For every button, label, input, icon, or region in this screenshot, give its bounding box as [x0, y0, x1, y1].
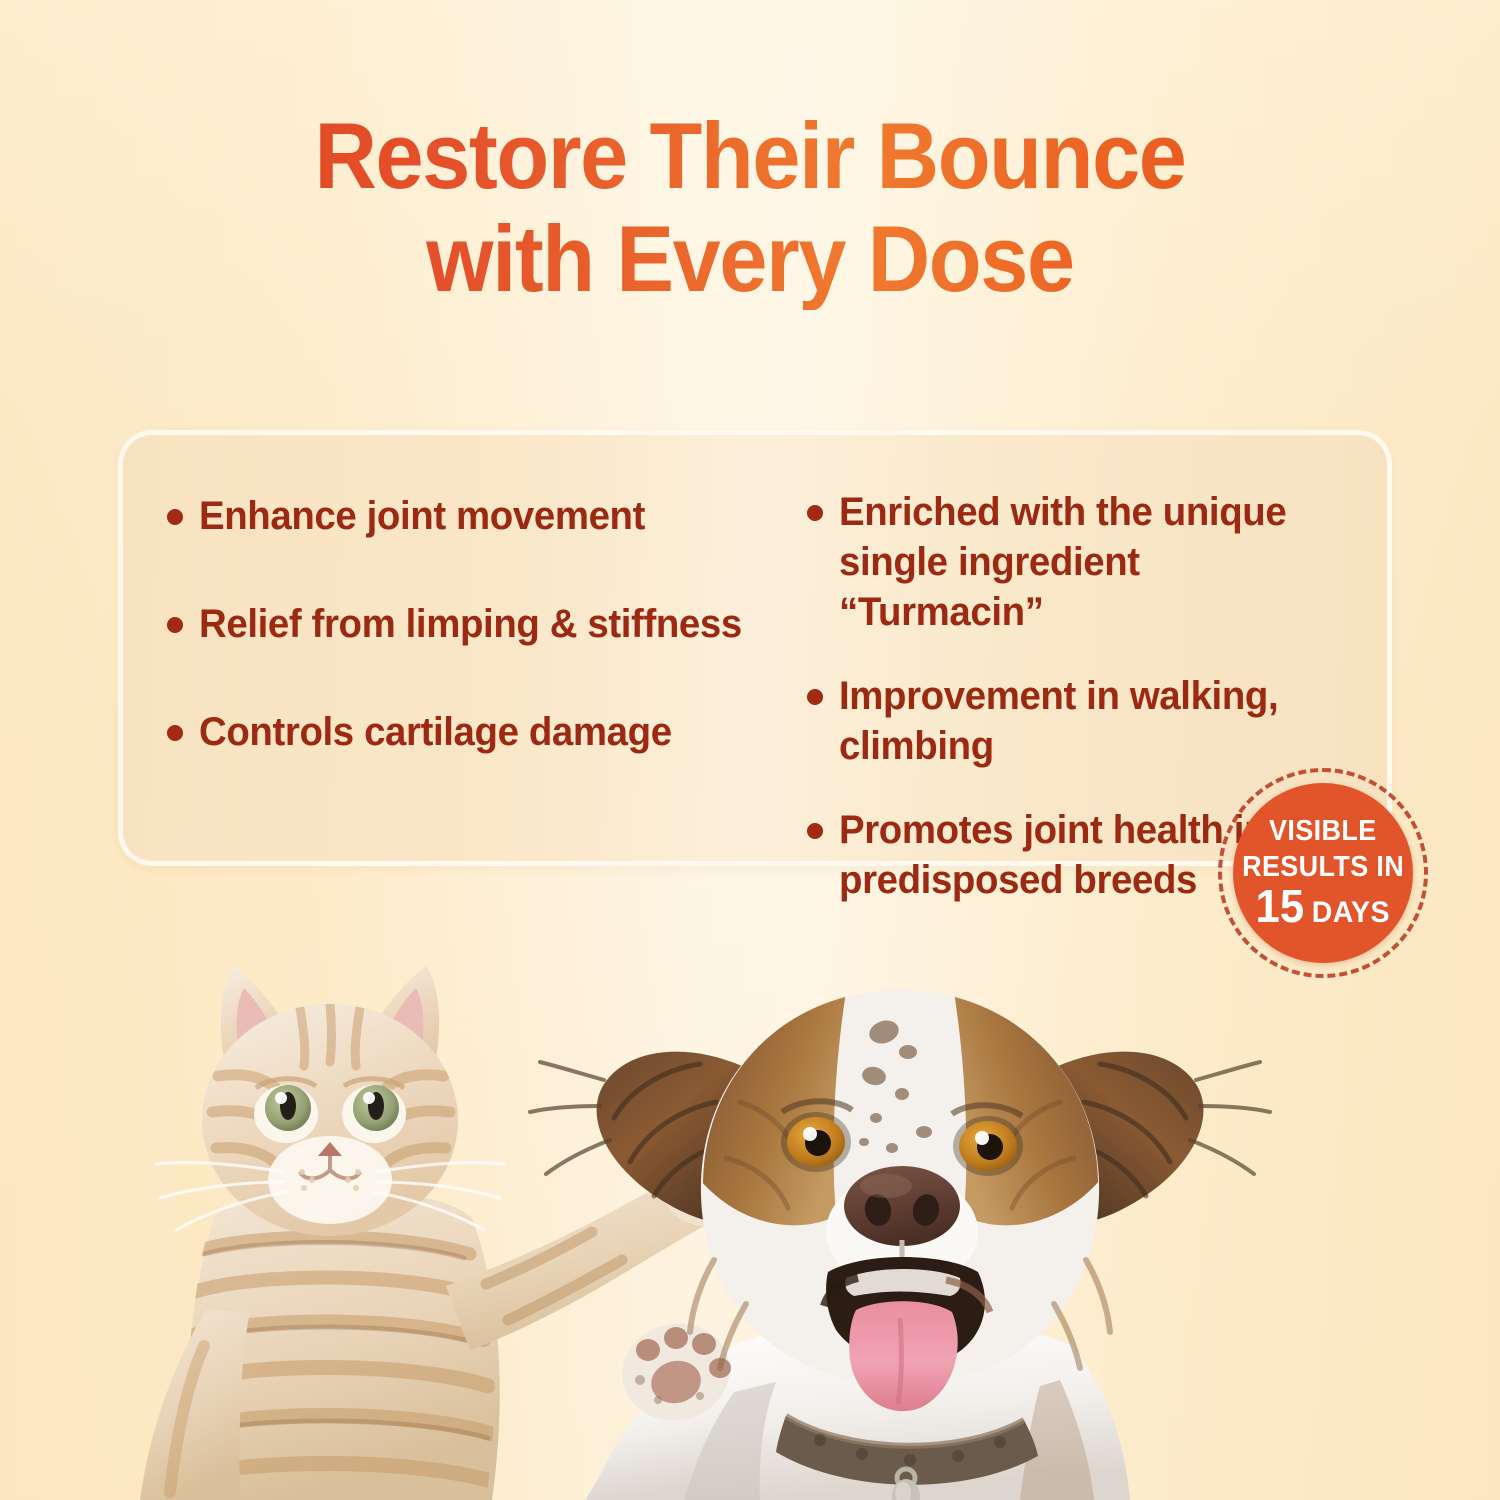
badge-line-1: VISIBLE	[1269, 813, 1377, 849]
badge-unit: DAYS	[1312, 892, 1390, 934]
bullet-dot-icon	[807, 689, 823, 705]
bullet-dot-icon	[807, 505, 823, 521]
benefit-label: Enriched with the unique single ingredie…	[839, 487, 1332, 637]
benefits-grid: Enhance joint movement Relief from limpi…	[123, 435, 1387, 861]
bullet-dot-icon	[167, 725, 183, 741]
bullet-dot-icon	[167, 509, 183, 525]
benefit-label: Improvement in walking, climbing	[839, 671, 1332, 771]
bullet-dot-icon	[807, 823, 823, 839]
list-item: Enriched with the unique single ingredie…	[807, 487, 1353, 637]
benefits-card: Enhance joint movement Relief from limpi…	[118, 430, 1392, 866]
benefit-label: Enhance joint movement	[199, 491, 645, 541]
benefits-left-column: Enhance joint movement Relief from limpi…	[167, 487, 767, 905]
list-item: Controls cartilage damage	[167, 707, 767, 757]
bullet-dot-icon	[167, 617, 183, 633]
badge-disc: VISIBLE RESULTS IN 15 DAYS	[1233, 783, 1413, 963]
badge-line-3: 15 DAYS	[1256, 885, 1390, 934]
status-badge: VISIBLE RESULTS IN 15 DAYS	[1218, 768, 1428, 978]
headline-line-2: with Every Dose	[60, 207, 1440, 310]
promo-poster: Restore Their Bounce with Every Dose Enh…	[0, 0, 1500, 1500]
list-item: Relief from limping & stiffness	[167, 599, 767, 649]
badge-number: 15	[1256, 885, 1305, 927]
list-item: Improvement in walking, climbing	[807, 671, 1353, 771]
benefit-label: Controls cartilage damage	[199, 707, 672, 757]
benefit-label: Relief from limping & stiffness	[199, 599, 742, 649]
list-item: Enhance joint movement	[167, 491, 767, 541]
page-title: Restore Their Bounce with Every Dose	[0, 104, 1500, 310]
headline-line-1: Restore Their Bounce	[60, 104, 1440, 207]
